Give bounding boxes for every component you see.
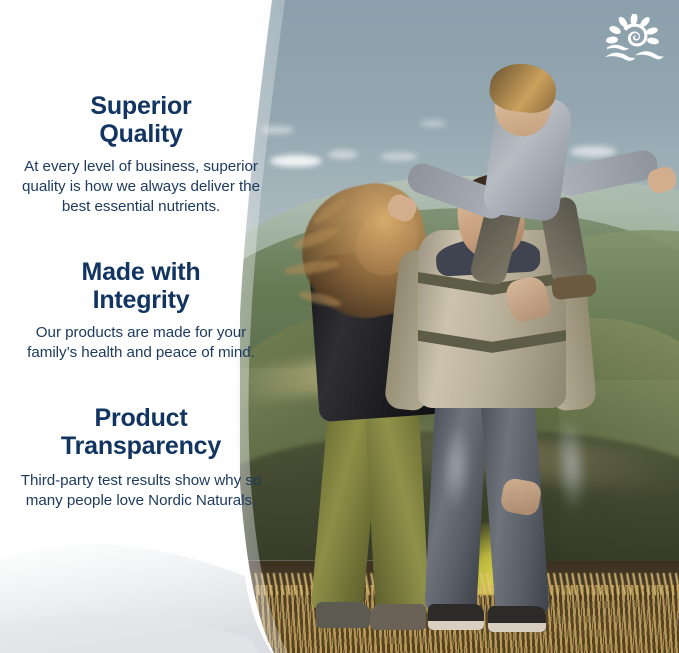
woman-shoe — [370, 604, 426, 630]
heading-line: Product — [16, 404, 266, 432]
child-shoe — [551, 274, 597, 300]
value-block-body: Our products are made for your family’s … — [16, 323, 266, 363]
denim-fade — [440, 421, 475, 512]
man-leg — [424, 393, 487, 613]
child-arm — [554, 148, 660, 199]
shoe-sole — [488, 623, 546, 632]
woman-leg — [364, 395, 429, 618]
heading-line: Transparency — [16, 432, 266, 460]
lifestyle-photo — [240, 0, 679, 653]
value-block-body: Third-party test results show why so man… — [16, 471, 266, 511]
value-block-body: At every level of business, superior qua… — [16, 157, 266, 217]
value-block-heading: Superior Quality — [16, 92, 266, 148]
heading-line: Made with — [16, 258, 266, 286]
family-group — [240, 0, 679, 653]
denim-fade — [552, 415, 591, 513]
value-block-heading: Made with Integrity — [16, 258, 266, 314]
heading-line: Integrity — [16, 286, 266, 314]
man-shoe — [488, 606, 546, 632]
brand-value-banner: Superior Quality At every level of busin… — [0, 0, 679, 653]
heading-line: Superior — [16, 92, 266, 120]
sun-wave-logo-icon — [601, 14, 665, 66]
man-shoe — [428, 604, 484, 630]
woman-legs — [320, 396, 430, 624]
value-block-heading: Product Transparency — [16, 404, 266, 460]
shoe-sole — [428, 621, 484, 630]
chevron-stripe — [418, 330, 566, 356]
woman-shoe — [316, 602, 370, 628]
value-block-made-with-integrity: Made with Integrity Our products are mad… — [16, 258, 266, 363]
heading-line: Quality — [16, 120, 266, 148]
value-propositions-column: Superior Quality At every level of busin… — [0, 0, 250, 653]
value-block-product-transparency: Product Transparency Third-party test re… — [16, 404, 266, 511]
value-block-superior-quality: Superior Quality At every level of busin… — [16, 92, 266, 217]
